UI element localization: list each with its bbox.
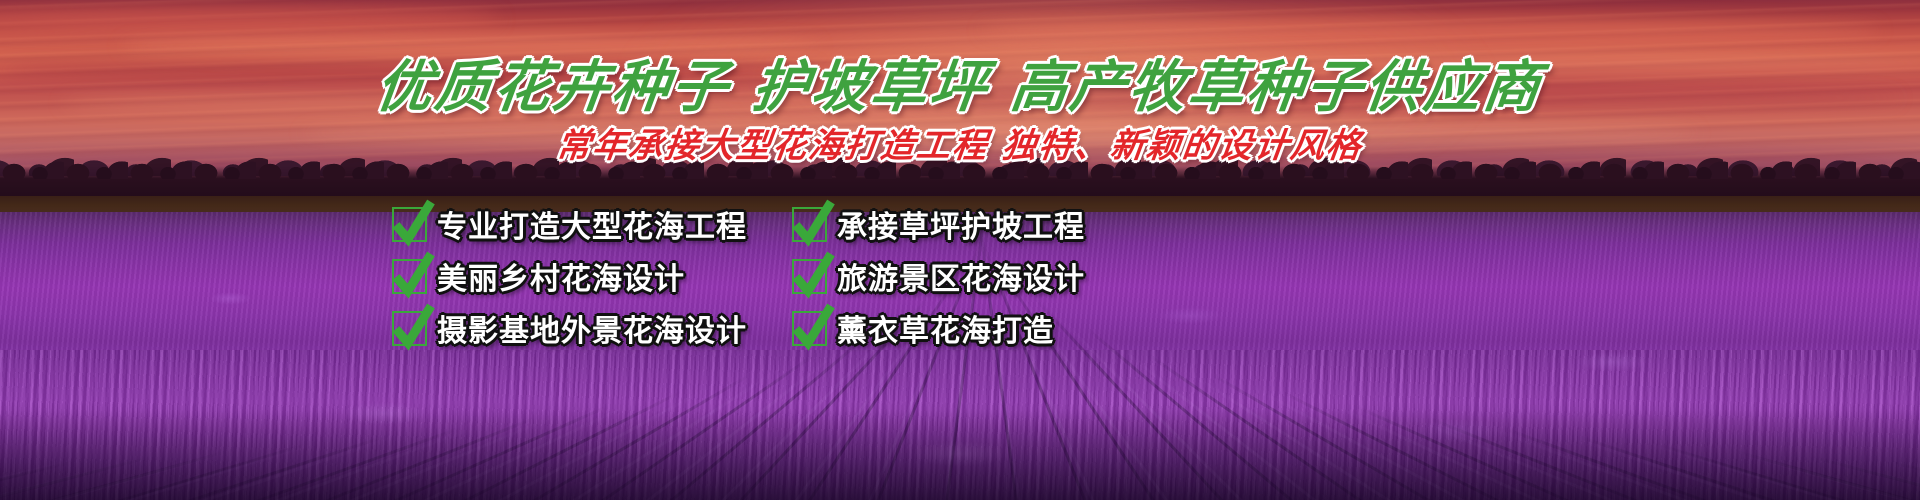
feature-label: 承接草坪护坡工程 xyxy=(837,202,1085,246)
page-title: 优质花卉种子 护坡草坪 高产牧草种子供应商 xyxy=(0,42,1920,123)
list-item: 专业打造大型花海工程 xyxy=(392,202,792,246)
feature-label: 专业打造大型花海工程 xyxy=(437,202,747,246)
feature-label: 旅游景区花海设计 xyxy=(837,254,1085,298)
promo-banner: 优质花卉种子 护坡草坪 高产牧草种子供应商 常年承接大型花海打造工程 独特、新颖… xyxy=(0,0,1920,500)
list-item: 美丽乡村花海设计 xyxy=(392,254,792,298)
list-item: 旅游景区花海设计 xyxy=(792,254,1152,298)
cloud-streak xyxy=(980,18,1880,42)
feature-label: 美丽乡村花海设计 xyxy=(437,254,685,298)
check-icon xyxy=(792,259,827,294)
page-subtitle: 常年承接大型花海打造工程 独特、新颖的设计风格 xyxy=(0,118,1920,167)
list-item: 承接草坪护坡工程 xyxy=(792,202,1152,246)
check-icon xyxy=(392,207,427,242)
check-icon xyxy=(392,311,427,346)
feature-label: 摄影基地外景花海设计 xyxy=(437,306,747,350)
check-icon xyxy=(392,259,427,294)
feature-label: 薰衣草花海打造 xyxy=(837,306,1054,350)
list-item: 薰衣草花海打造 xyxy=(792,306,1152,350)
check-icon xyxy=(792,207,827,242)
feature-list: 专业打造大型花海工程 承接草坪护坡工程 美丽乡村花海设计 旅游景区花海设计 摄影 xyxy=(392,198,1152,354)
check-icon xyxy=(792,311,827,346)
list-item: 摄影基地外景花海设计 xyxy=(392,306,792,350)
field-vignette xyxy=(0,410,1920,500)
